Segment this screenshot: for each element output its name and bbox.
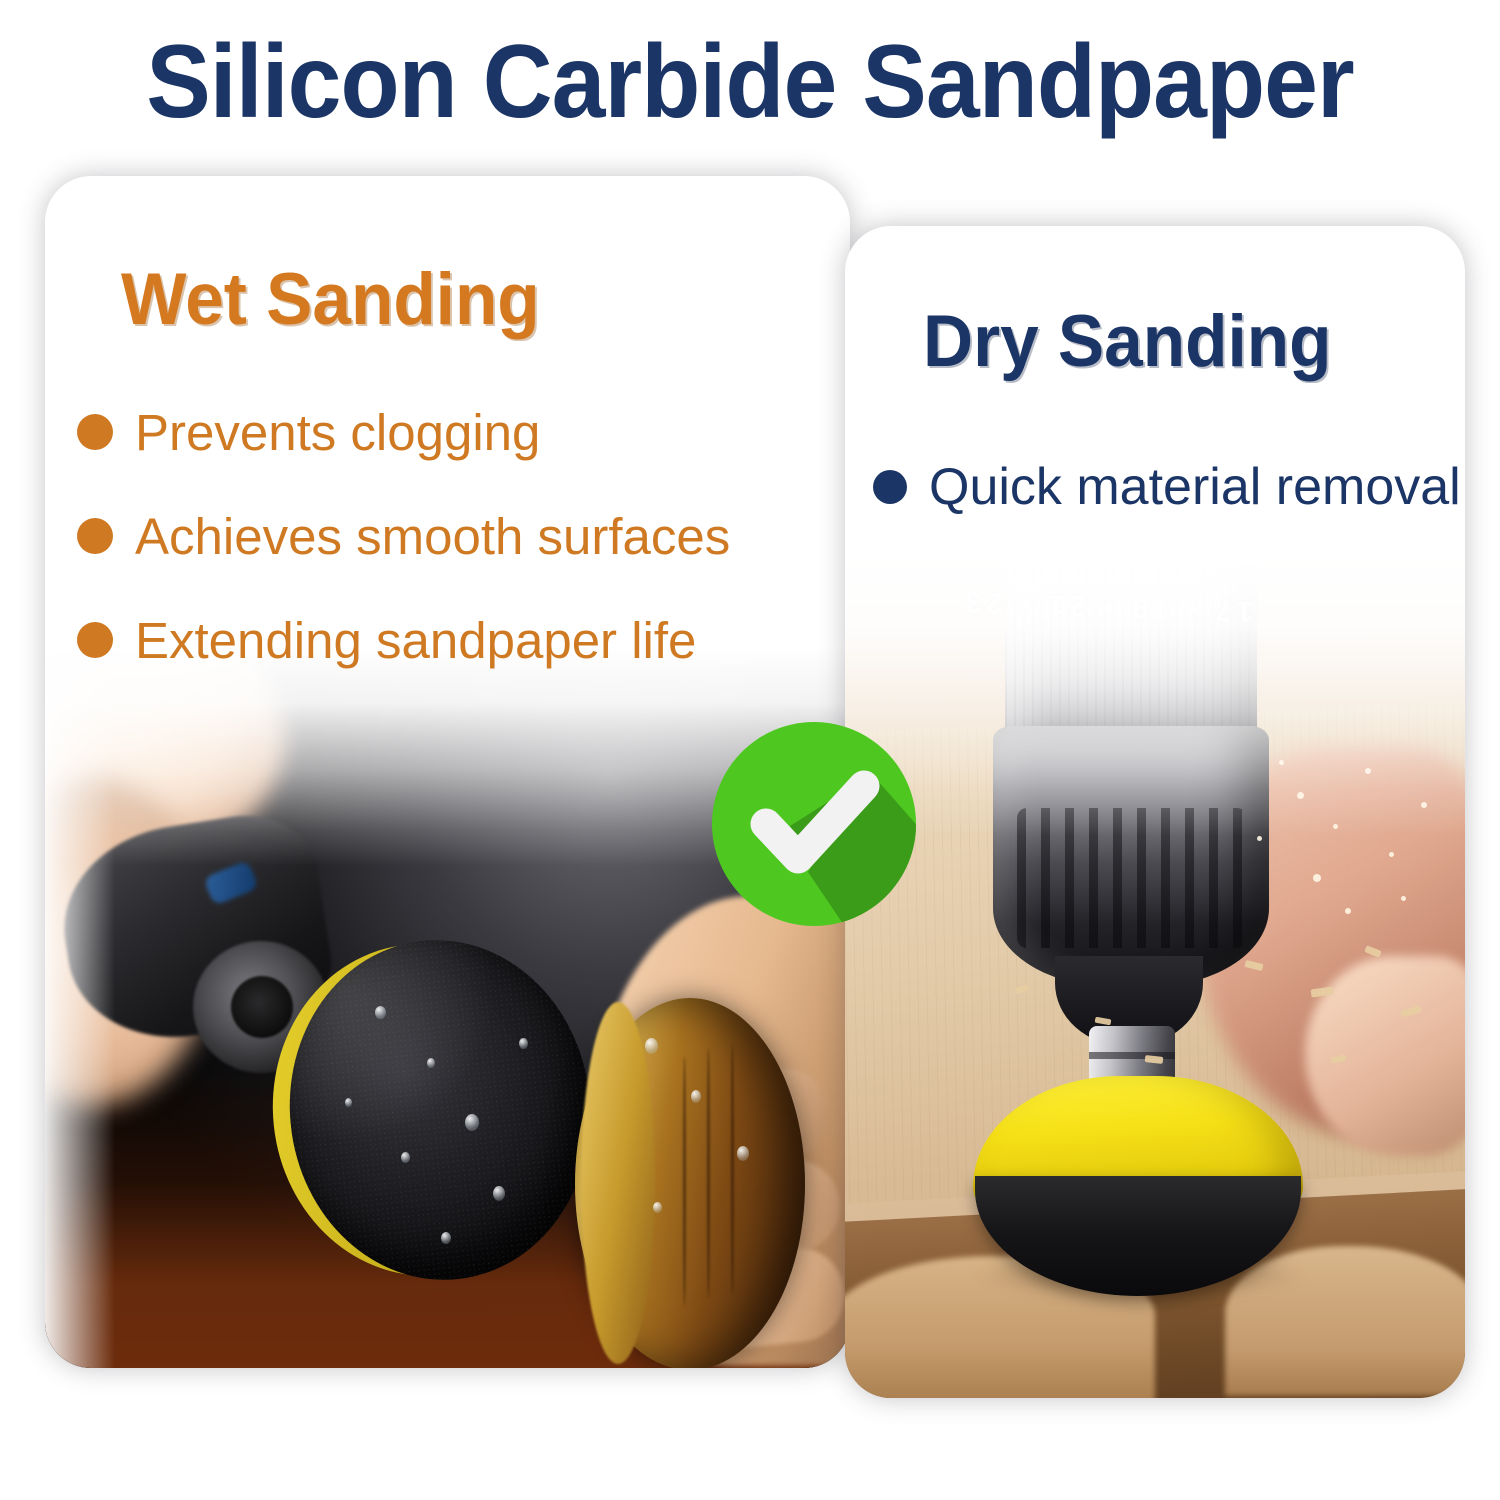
list-item: Achieves smooth surfaces: [77, 484, 730, 588]
bullet-label: Extending sandpaper life: [135, 615, 696, 666]
water-droplet: [401, 1152, 410, 1163]
list-item: Extending sandpaper life: [77, 588, 730, 692]
water-droplet: [375, 1006, 386, 1019]
sawdust-speck: [1345, 908, 1351, 914]
water-droplet: [345, 1098, 352, 1107]
sawdust-speck: [1389, 852, 1394, 857]
dry-sanding-photo: 17 • 19 • 21 • 23: [845, 556, 1465, 1398]
water-droplet: [519, 1038, 528, 1049]
bullet-dot-icon: [77, 518, 113, 554]
sawdust-speck: [1421, 802, 1427, 808]
sawdust-speck: [1257, 836, 1262, 841]
water-droplet: [493, 1186, 505, 1201]
list-item: Quick material removal: [873, 452, 1461, 522]
dry-sanding-heading: Dry Sanding: [923, 300, 1331, 383]
water-droplet: [653, 1202, 662, 1213]
infographic-page: Silicon Carbide Sandpaper: [0, 0, 1500, 1500]
sawdust-speck: [1333, 824, 1338, 829]
sawdust-speck: [1279, 760, 1284, 765]
bullet-label: Quick material removal: [929, 461, 1461, 513]
bullet-dot-icon: [77, 622, 113, 658]
bullet-dot-icon: [873, 470, 907, 504]
page-title: Silicon Carbide Sandpaper: [53, 26, 1448, 138]
water-droplet: [737, 1146, 749, 1161]
dry-sanding-card: 17 • 19 • 21 • 23: [845, 226, 1465, 1398]
bullet-label: Achieves smooth surfaces: [135, 511, 730, 562]
check-mark-icon: [712, 722, 916, 926]
water-droplet: [645, 1038, 658, 1054]
water-droplet: [691, 1090, 701, 1103]
sawdust-speck: [1313, 874, 1321, 882]
water-droplet: [441, 1232, 451, 1244]
sawdust-speck: [1365, 768, 1371, 774]
wet-photo-tool-collar-inner: [231, 976, 293, 1038]
dry-photo-drill-vents: [1017, 808, 1247, 948]
wet-sanding-heading: Wet Sanding: [121, 258, 540, 341]
bullet-dot-icon: [77, 414, 113, 450]
sawdust-speck: [1401, 896, 1406, 901]
list-item: Prevents clogging: [77, 380, 730, 484]
wet-photo-brass-groove: [731, 1044, 734, 1294]
sawdust-speck: [1297, 792, 1304, 799]
water-droplet: [427, 1058, 435, 1068]
wet-sanding-bullet-list: Prevents clogging Achieves smooth surfac…: [77, 380, 730, 692]
wet-photo-brass-groove: [707, 1048, 710, 1298]
wet-photo-brass-groove: [683, 1056, 686, 1306]
water-droplet: [465, 1114, 479, 1131]
bullet-label: Prevents clogging: [135, 407, 540, 458]
wet-photo-brass-rim: [581, 1002, 655, 1364]
dry-sanding-bullet-list: Quick material removal: [873, 452, 1461, 522]
